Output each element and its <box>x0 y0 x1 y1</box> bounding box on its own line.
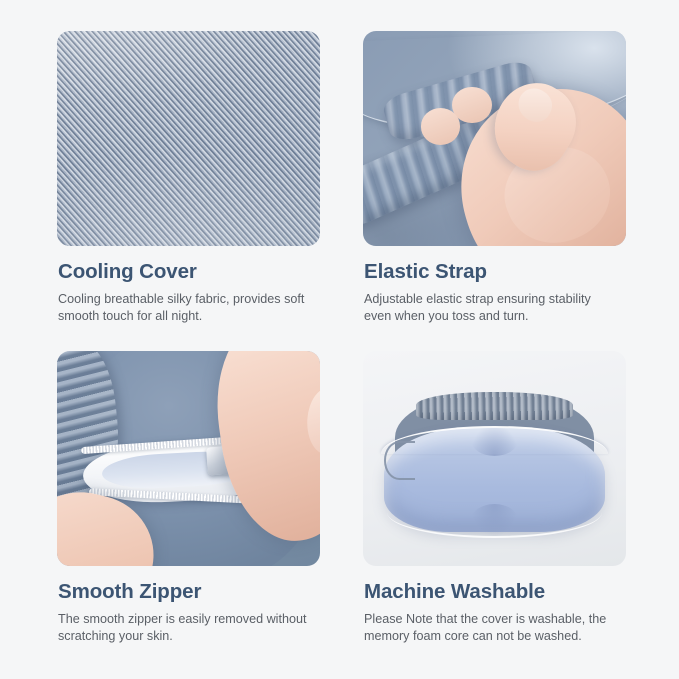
hand-knuckle <box>421 108 460 145</box>
elastic-strap-hand-image <box>363 31 626 246</box>
hand-right-thumb <box>305 386 320 456</box>
feature-card-smooth-zipper: Smooth Zipper The smooth zipper is easil… <box>57 351 320 671</box>
feature-caption: Smooth Zipper The smooth zipper is easil… <box>57 566 320 646</box>
feature-title-elastic-strap: Elastic Strap <box>364 260 626 284</box>
hand-left-thumb <box>57 565 69 566</box>
feature-grid: Cooling Cover Cooling breathable silky f… <box>0 0 679 679</box>
feature-description-elastic-strap: Adjustable elastic strap ensuring stabil… <box>364 291 616 327</box>
feature-card-machine-washable: Machine Washable Please Note that the co… <box>363 351 626 671</box>
cover-piping-bottom <box>387 512 603 538</box>
feature-card-elastic-strap: Elastic Strap Adjustable elastic strap e… <box>363 31 626 351</box>
feature-description-smooth-zipper: The smooth zipper is easily removed with… <box>58 611 310 647</box>
feature-description-cooling-cover: Cooling breathable silky fabric, provide… <box>58 291 310 327</box>
feature-caption: Cooling Cover Cooling breathable silky f… <box>57 246 320 326</box>
feature-description-machine-washable: Please Note that the cover is washable, … <box>364 611 616 647</box>
feature-caption: Machine Washable Please Note that the co… <box>363 566 626 646</box>
fabric-twill-texture <box>57 31 320 246</box>
feature-title-cooling-cover: Cooling Cover <box>58 260 320 284</box>
smooth-zipper-hands-image <box>57 351 320 566</box>
feature-card-cooling-cover: Cooling Cover Cooling breathable silky f… <box>57 31 320 351</box>
machine-washable-pillow-image <box>363 351 626 566</box>
feature-title-smooth-zipper: Smooth Zipper <box>58 580 320 604</box>
pillow-cover-elastic-ruche <box>416 392 574 420</box>
feature-title-machine-washable: Machine Washable <box>364 580 626 604</box>
cooling-fabric-texture-image <box>57 31 320 246</box>
cover-strap-loop <box>384 441 415 479</box>
feature-caption: Elastic Strap Adjustable elastic strap e… <box>363 246 626 326</box>
